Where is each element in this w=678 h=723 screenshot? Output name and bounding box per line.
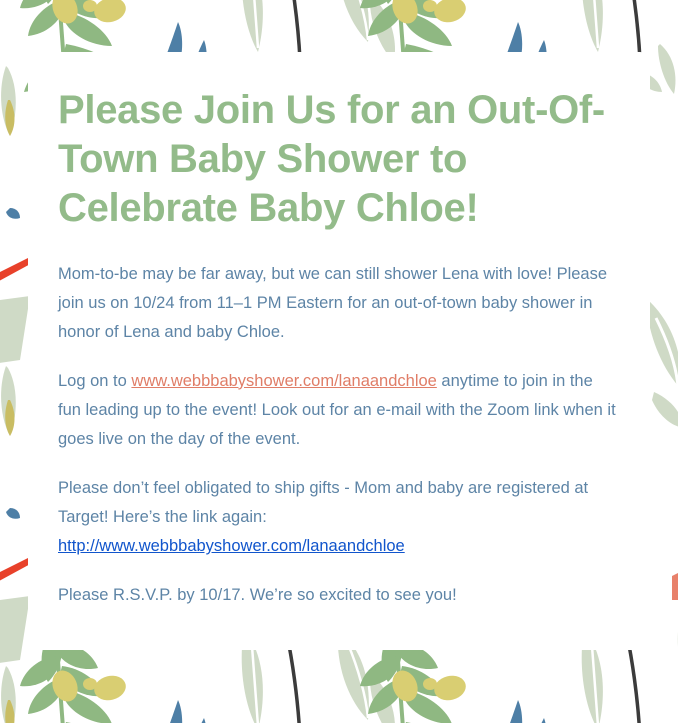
logon-text-before-link: Log on to: [58, 372, 131, 390]
invitation-body: Mom-to-be may be far away, but we can st…: [58, 260, 616, 611]
page-title: Please Join Us for an Out-Of-Town Baby S…: [58, 86, 616, 234]
shower-site-link[interactable]: www.webbbabyshower.com/lanaandchloe: [131, 372, 436, 390]
paragraph-event-details-text: Mom-to-be may be far away, but we can st…: [58, 265, 607, 342]
registry-text-before-link: Please don’t feel obligated to ship gift…: [58, 479, 588, 526]
paragraph-logon: Log on to www.webbbabyshower.com/lanaand…: [58, 367, 616, 455]
paragraph-registry: Please don’t feel obligated to ship gift…: [58, 474, 616, 562]
registry-link[interactable]: http://www.webbbabyshower.com/lanaandchl…: [58, 537, 405, 555]
paragraph-rsvp-note: Please R.S.V.P. by 10/17. We’re so excit…: [58, 581, 616, 610]
paragraph-event-details: Mom-to-be may be far away, but we can st…: [58, 260, 616, 348]
invitation-card: Please Join Us for an Out-Of-Town Baby S…: [28, 52, 650, 650]
